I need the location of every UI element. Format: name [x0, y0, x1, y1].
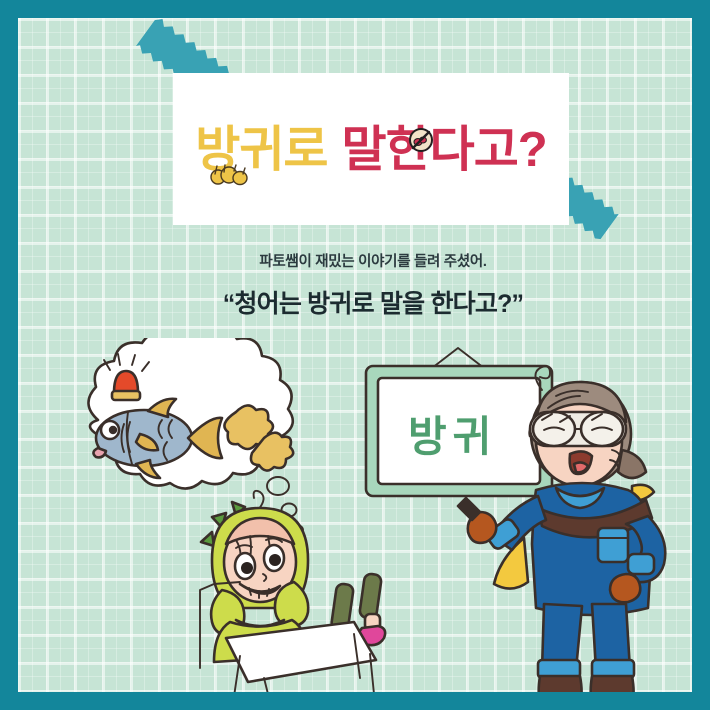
- poster-frame: 방귀로 말한다고? 파토쌤이 재밌는 이야기를 들려 주셨어. “청어는 방귀로…: [0, 0, 710, 710]
- subtitle-line-2: “청어는 방귀로 말을 한다고?”: [18, 284, 692, 320]
- fart-cloud-icon: [209, 164, 251, 186]
- illustration-stage: .ol{stroke:#3a2f2a;stroke-width:2.6;stro…: [36, 338, 692, 692]
- subtitle-line-1: 파토쌤이 재밌는 이야기를 들려 주셨어.: [18, 250, 692, 271]
- no-fart-icon: [408, 127, 434, 153]
- title-part-red: 말한다고?: [341, 110, 546, 181]
- whiteboard: 방귀: [366, 348, 552, 496]
- whiteboard-text: 방귀: [408, 413, 497, 460]
- goggles-icon: [530, 412, 626, 446]
- thought-bubble: [88, 338, 293, 489]
- grid-background: 방귀로 말한다고? 파토쌤이 재밌는 이야기를 들려 주셨어. “청어는 방귀로…: [18, 18, 692, 692]
